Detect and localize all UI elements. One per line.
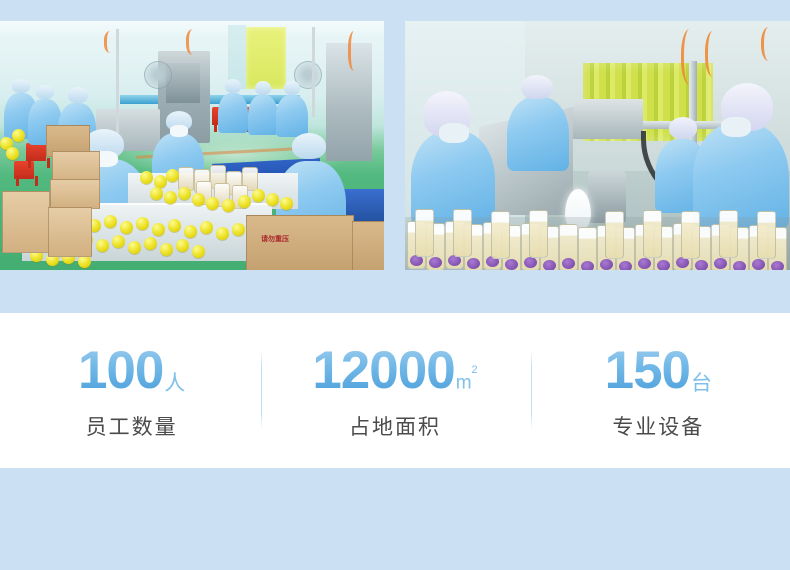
yellow-lid	[176, 239, 189, 252]
worker-background-6	[276, 79, 308, 137]
yellow-lid	[120, 221, 133, 234]
product-bottle	[491, 211, 510, 259]
yellow-lid	[166, 169, 179, 182]
yellow-lid	[200, 221, 213, 234]
yellow-lid	[136, 217, 149, 230]
yellow-lid	[144, 237, 157, 250]
product-bottle	[719, 210, 738, 258]
product-bottle	[578, 227, 597, 270]
stat-employee-count-label: 员工数量	[0, 411, 263, 441]
stat-floor-area-value-line: 12000 m2	[263, 341, 526, 397]
product-bottle	[681, 211, 700, 259]
cardboard-box-7	[352, 221, 384, 270]
yellow-lid	[252, 189, 265, 202]
stat-floor-area: 12000 m2 占地面积	[263, 341, 526, 441]
yellow-lid	[160, 243, 173, 256]
wall-fan-left	[144, 61, 172, 89]
stat-employee-count-value: 100	[78, 344, 163, 397]
product-bottle	[415, 209, 434, 257]
worker-background-5	[248, 79, 278, 135]
yellow-lid	[150, 187, 163, 200]
yellow-lid	[140, 171, 153, 184]
worker-background-center	[507, 75, 569, 171]
factory-packing-floor-scene: 请勿重压	[0, 21, 384, 270]
orange-hose-2	[104, 31, 119, 53]
stat-floor-area-unit-base: m	[456, 373, 472, 394]
cardboard-box-3	[50, 179, 100, 209]
stats-row: 100 人 员工数量 12000 m2 占地面积 150 台 专业设备	[0, 313, 790, 468]
yellow-lid	[184, 225, 197, 238]
orange-hose-3	[348, 31, 363, 71]
page-root: 请勿重压	[0, 0, 790, 570]
yellow-lid	[192, 193, 205, 206]
worker-background-4	[218, 77, 248, 133]
product-bottle	[559, 224, 578, 270]
worker-foreground-right	[693, 83, 789, 231]
stat-equipment-count-unit: 台	[691, 367, 712, 397]
stat-employee-count-unit: 人	[164, 367, 185, 397]
cardboard-box-4	[2, 191, 50, 253]
gallery-image-factory-packing-floor[interactable]: 请勿重压	[0, 21, 384, 270]
bottom-background-fill	[0, 468, 790, 570]
red-stool-5	[26, 143, 46, 161]
yellow-lid	[222, 199, 235, 212]
product-bottle	[757, 211, 776, 259]
cardboard-box-printed: 请勿重压	[246, 215, 354, 270]
stat-floor-area-value: 12000	[312, 344, 454, 397]
product-bottle	[643, 210, 662, 258]
yellow-lid	[216, 227, 229, 240]
yellow-lid	[168, 219, 181, 232]
yellow-lid	[12, 129, 25, 142]
stat-floor-area-unit-exponent: 2	[472, 364, 478, 376]
stat-floor-area-unit: m2	[456, 372, 478, 394]
yellow-lid	[280, 197, 293, 210]
yellow-lid	[206, 197, 219, 210]
carton-print-text: 请勿重压	[261, 234, 289, 244]
stat-employee-count: 100 人 员工数量	[0, 341, 263, 441]
yellow-lid	[192, 245, 205, 258]
orange-coil-2	[705, 31, 722, 77]
yellow-lid	[178, 187, 191, 200]
orange-coil-3	[761, 27, 778, 61]
yellow-lid	[152, 223, 165, 236]
yellow-lid	[238, 195, 251, 208]
yellow-lid	[128, 241, 141, 254]
stat-equipment-count-value: 150	[605, 344, 690, 397]
product-bottle	[453, 209, 472, 257]
stat-equipment-count: 150 台 专业设备	[527, 341, 790, 441]
gallery-image-clean-room-filling-line[interactable]	[405, 21, 790, 270]
worker-foreground-left	[411, 91, 495, 227]
yellow-lid	[104, 215, 117, 228]
yellow-lid	[6, 147, 19, 160]
machine-hood	[573, 99, 643, 139]
cardboard-box-5	[48, 207, 92, 257]
orange-hose-1	[186, 29, 203, 55]
image-gallery: 请勿重压	[0, 21, 790, 270]
clean-room-filling-line-scene	[405, 21, 790, 270]
yellow-lid	[266, 193, 279, 206]
product-bottle	[605, 211, 624, 259]
stat-equipment-count-value-line: 150 台	[527, 341, 790, 397]
yellow-lid	[164, 191, 177, 204]
support-pole-2	[312, 27, 315, 117]
stat-employee-count-value-line: 100 人	[0, 341, 263, 397]
product-bottle	[529, 210, 548, 258]
yellow-lid	[112, 235, 125, 248]
stats-panel: 100 人 员工数量 12000 m2 占地面积 150 台 专业设备	[0, 313, 790, 468]
stat-floor-area-label: 占地面积	[263, 411, 526, 441]
yellow-lid	[96, 239, 109, 252]
yellow-lid	[232, 223, 245, 236]
stat-equipment-count-label: 专业设备	[527, 411, 790, 441]
